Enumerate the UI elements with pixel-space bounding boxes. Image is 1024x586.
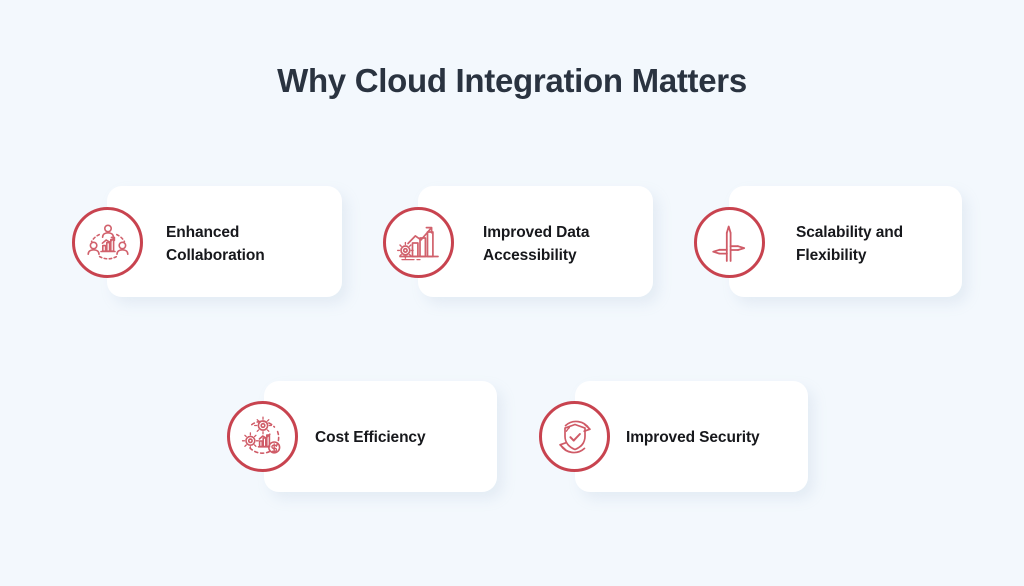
page-title: Why Cloud Integration Matters [0,62,1024,100]
infographic-page: Why Cloud Integration Matters Enhan [0,0,1024,586]
bar-chart-gear-growth-icon [383,207,454,278]
three-way-branching-arrows-icon [694,207,765,278]
collaboration-people-chart-icon [72,207,143,278]
benefit-card-label: Improved Data Accessibility [483,221,648,267]
shield-check-refresh-icon [539,401,610,472]
cost-gear-dollar-chart-icon [227,401,298,472]
benefit-card-label: Scalability and Flexibility [796,221,956,267]
benefit-card-label: Enhanced Collaboration [166,221,326,267]
benefit-card-label: Improved Security [626,426,806,449]
benefit-card-label: Cost Efficiency [315,426,490,449]
